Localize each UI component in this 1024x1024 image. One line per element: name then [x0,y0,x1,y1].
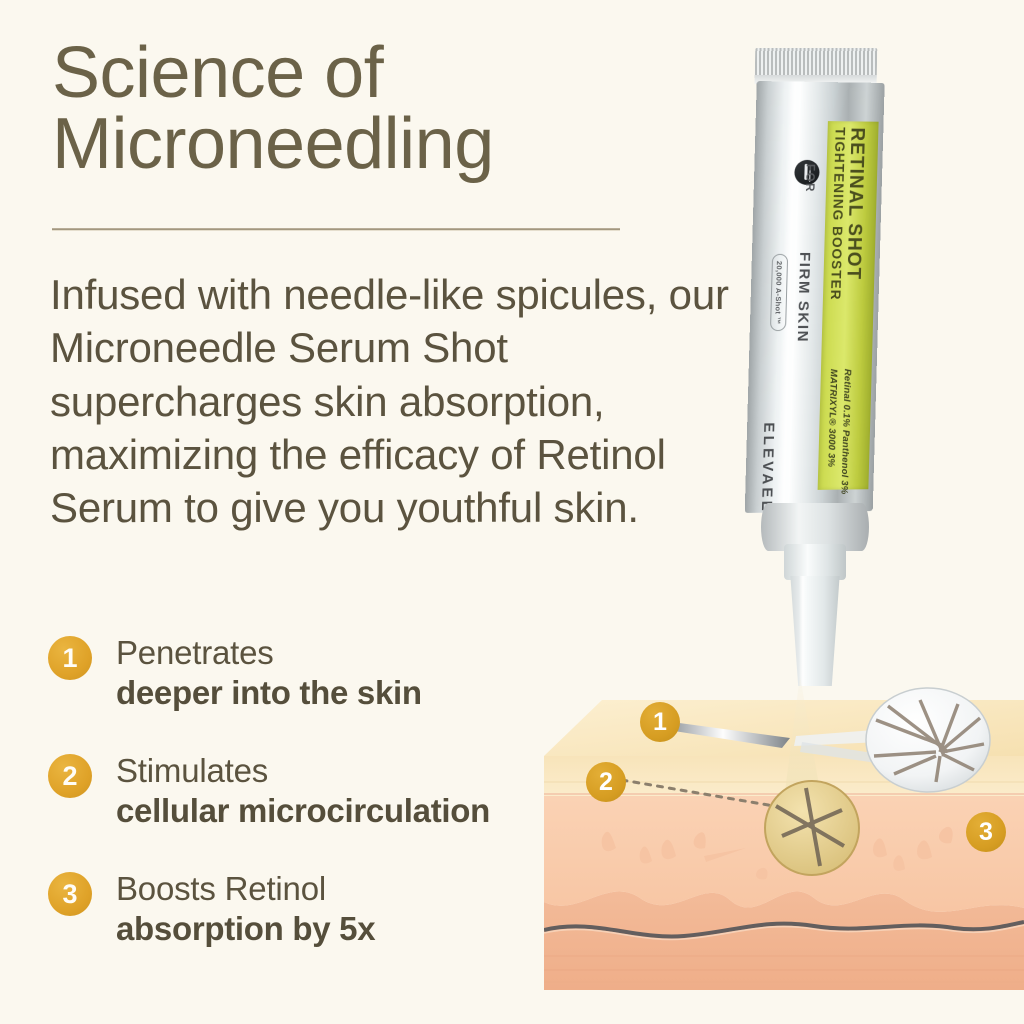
list-item: 3 Boosts Retinol absorption by 5x [48,870,568,958]
benefit-badge-2: 2 [48,754,92,798]
skin-cross-section-diagram: 1 2 3 [544,660,1024,990]
tube-crimp-seal [755,48,878,78]
benefit-3-line-2: absorption by 5x [116,909,568,949]
dose-badge: 20,000 A-Shot ™ [770,254,788,332]
tube-green-panel: RETINAL SHOT TIGHTENING BOOSTER Retinal … [817,121,878,491]
diagram-marker-3: 3 [966,812,1006,852]
benefit-1-line-2: deeper into the skin [116,673,568,713]
poster-canvas: Science of Microneedling Infused with ne… [0,0,1024,1024]
page-title-line-1: Science of [52,38,712,109]
claim-target-label: FIRM SKIN [794,252,814,343]
page-title-line-2: Microneedling [52,109,712,180]
benefit-badge-1: 1 [48,636,92,680]
tube-body: RETINAL SHOT TIGHTENING BOOSTER Retinal … [745,81,885,513]
claim-for-label: FOR [803,164,816,193]
product-tube: RETINAL SHOT TIGHTENING BOOSTER Retinal … [737,48,897,648]
needle-in-dermis-inset [765,781,859,875]
brand-name: ELEVAEE [758,422,778,514]
diagram-marker-2: 2 [586,762,626,802]
list-item: 2 Stimulates cellular microcirculation [48,752,568,840]
magnified-spicule-inset [866,688,990,792]
page-title: Science of Microneedling [52,38,712,179]
benefit-3-line-1: Boosts Retinol [116,870,568,909]
ingredients-line-1: Retinal 0.1% Panthenol 3% [838,368,852,494]
benefit-1-line-1: Penetrates [116,634,568,673]
benefit-2-line-1: Stimulates [116,752,568,791]
list-item: 1 Penetrates deeper into the skin [48,634,568,722]
benefit-badge-3: 3 [48,872,92,916]
ingredients-line-2: MATRIXYL® 3000 3% [825,369,839,467]
diagram-marker-1: 1 [640,702,680,742]
title-divider [52,228,620,231]
body-paragraph: Infused with needle-like spicules, our M… [50,268,765,535]
skin-diagram-svg [544,660,1024,990]
tube-neck [784,544,846,580]
benefit-2-line-2: cellular microcirculation [116,791,568,831]
benefits-list: 1 Penetrates deeper into the skin 2 Stim… [48,634,568,988]
